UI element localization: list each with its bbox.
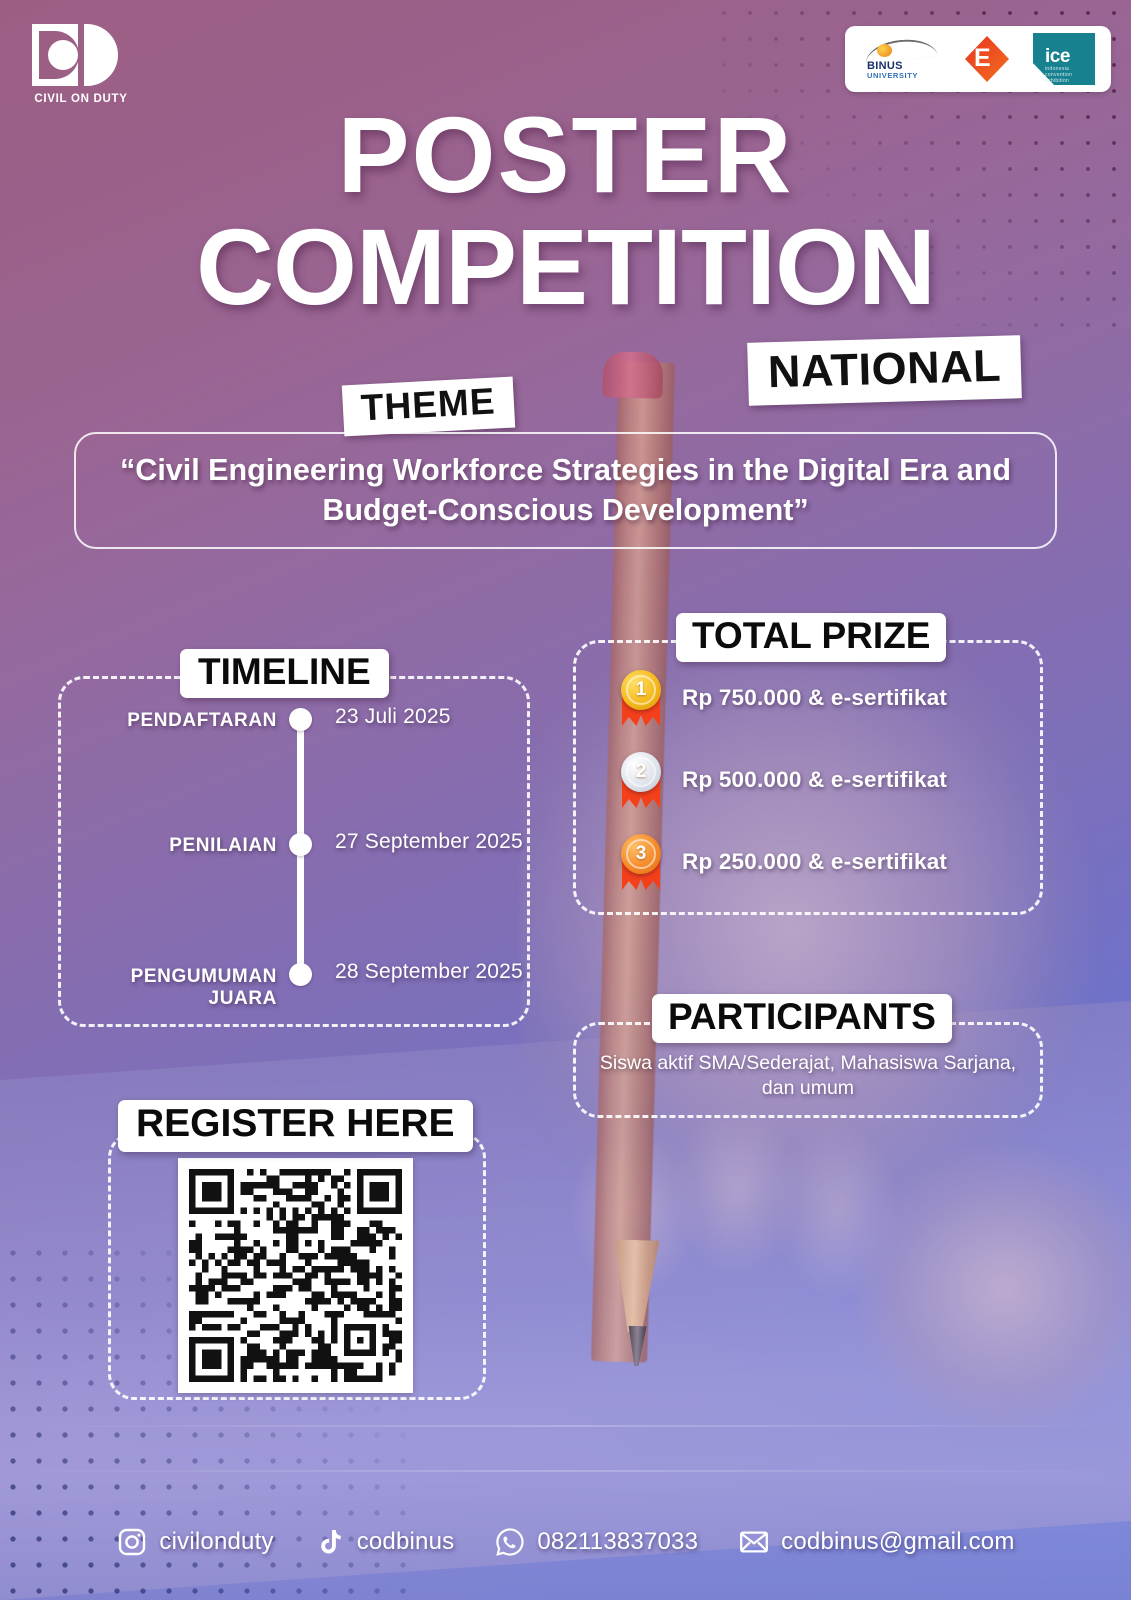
contact-email-text: codbinus@gmail.com — [781, 1528, 1014, 1556]
timeline-dot — [289, 833, 312, 856]
prize-row: 1 Rp 750.000 & e-sertifikat — [618, 670, 947, 726]
prize-rank: 3 — [636, 843, 647, 865]
title-line-poster: POSTER — [0, 104, 1131, 207]
bronze-medal-icon: 3 — [618, 834, 664, 890]
theme-text: “Civil Engineering Workforce Strategies … — [76, 451, 1055, 529]
contact-whatsapp-text: 082113837033 — [537, 1528, 698, 1556]
timeline-dot — [289, 963, 312, 986]
theme-badge: THEME — [342, 377, 515, 437]
prize-text: Rp 500.000 & e-sertifikat — [682, 767, 947, 793]
tiktok-icon — [314, 1526, 346, 1558]
whatsapp-icon — [494, 1526, 526, 1558]
poster-root: CIVIL ON DUTY BINUS UNIVERSITY E ice ind… — [0, 0, 1131, 1600]
prize-rank: 2 — [636, 761, 647, 783]
timeline-item-date: 23 Juli 2025 — [335, 705, 451, 729]
brand-logo: CIVIL ON DUTY — [26, 24, 136, 105]
timeline-heading: TIMELINE — [180, 649, 389, 698]
second-hand-shape — [860, 1140, 1131, 1470]
timeline-item-label: PENDAFTARAN — [62, 710, 277, 732]
national-badge: NATIONAL — [747, 335, 1022, 406]
prize-heading: TOTAL PRIZE — [676, 613, 946, 662]
contact-email[interactable]: codbinus@gmail.com — [738, 1526, 1014, 1558]
civil-on-duty-logo-icon — [32, 24, 120, 86]
prize-text: Rp 250.000 & e-sertifikat — [682, 849, 947, 875]
contact-tiktok-text: codbinus — [357, 1528, 455, 1556]
poster-title: POSTER COMPETITION — [0, 104, 1131, 321]
participants-text: Siswa aktif SMA/Sederajat, Mahasiswa Sar… — [585, 1051, 1031, 1102]
prize-text: Rp 750.000 & e-sertifikat — [682, 685, 947, 711]
ice-logo-text: ice — [1045, 46, 1070, 68]
participants-heading: PARTICIPANTS — [652, 994, 952, 1043]
theme-box: “Civil Engineering Workforce Strategies … — [74, 432, 1057, 549]
instagram-icon — [116, 1526, 148, 1558]
silver-medal-icon: 2 — [618, 752, 664, 808]
prize-rank: 1 — [636, 679, 647, 701]
iec-logo-icon: E — [959, 34, 1015, 84]
prize-row: 2 Rp 500.000 & e-sertifikat — [618, 752, 947, 808]
title-line-competition: COMPETITION — [0, 213, 1131, 321]
prize-row: 3 Rp 250.000 & e-sertifikat — [618, 834, 947, 890]
contact-tiktok[interactable]: codbinus — [314, 1526, 455, 1558]
binus-university-logo-icon: BINUS UNIVERSITY — [861, 36, 941, 82]
timeline-item-label: PENGUMUMAN JUARA — [62, 966, 277, 1010]
contact-whatsapp[interactable]: 082113837033 — [494, 1526, 698, 1558]
gold-medal-icon: 1 — [618, 670, 664, 726]
timeline-dot — [289, 708, 312, 731]
binus-logo-line2: UNIVERSITY — [867, 71, 918, 80]
ice-logo-icon: ice indonesia convention exhibition — [1033, 33, 1095, 85]
footer-contacts: civilonduty codbinus 082113837033 — [0, 1526, 1131, 1558]
qr-code-image — [189, 1169, 402, 1382]
email-icon — [738, 1526, 770, 1558]
timeline-item-date: 28 September 2025 — [335, 960, 523, 984]
pencil-eraser — [602, 351, 663, 399]
ice-logo-subtext: indonesia convention exhibition — [1045, 66, 1095, 84]
contact-instagram-text: civilonduty — [159, 1528, 273, 1556]
register-heading: REGISTER HERE — [118, 1100, 473, 1152]
timeline-item-date: 27 September 2025 — [335, 830, 523, 854]
iec-logo-letter: E — [974, 46, 1000, 72]
registration-qr-code[interactable] — [178, 1158, 413, 1393]
timeline-item-label: PENILAIAN — [62, 835, 277, 857]
partner-logo-strip: BINUS UNIVERSITY E ice indonesia convent… — [845, 26, 1111, 92]
contact-instagram[interactable]: civilonduty — [116, 1526, 273, 1558]
